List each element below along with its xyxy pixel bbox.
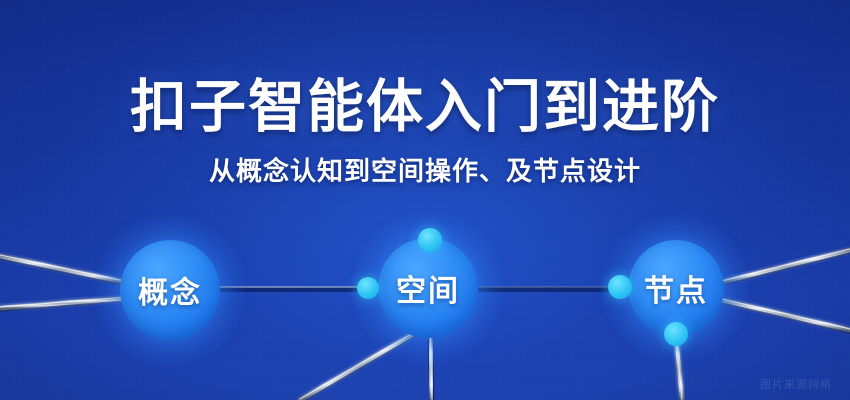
edge-node2-down-left <box>300 330 420 400</box>
watermark: 图片来源网络 <box>760 376 832 392</box>
dot-node2-top-icon <box>418 228 442 252</box>
dot-node3-left-icon <box>608 275 632 299</box>
headline-block: 扣子智能体入门到进阶 从概念认知到空间操作、及节点设计 <box>0 78 850 188</box>
node-concept-label: 概念 <box>138 268 202 312</box>
edge-left-upper-to-node1 <box>0 256 124 282</box>
edge-node3-low-right <box>722 300 850 330</box>
node-space-label: 空间 <box>396 266 460 310</box>
edge-node3-up-right-highlight <box>722 249 850 281</box>
dot-node3-bottom-icon <box>664 322 688 346</box>
network-graph <box>0 0 850 400</box>
banner-title: 扣子智能体入门到进阶 <box>0 78 850 137</box>
promo-banner: 扣子智能体入门到进阶 从概念认知到空间操作、及节点设计 概念 空间 节点 图片来… <box>0 0 850 400</box>
node-concept[interactable]: 概念 <box>120 240 220 340</box>
node-node-label: 节点 <box>644 266 708 310</box>
dot-node2-left-icon <box>357 277 379 299</box>
edge-node3-low-right-highlight <box>722 299 850 329</box>
edge-node3-up-right <box>722 250 850 282</box>
banner-subtitle: 从概念认知到空间操作、及节点设计 <box>0 151 850 188</box>
node-space[interactable]: 空间 <box>378 238 478 338</box>
edge-left-upper-to-node1-highlight <box>0 255 124 281</box>
edge-node2-down-left-highlight <box>300 329 420 399</box>
